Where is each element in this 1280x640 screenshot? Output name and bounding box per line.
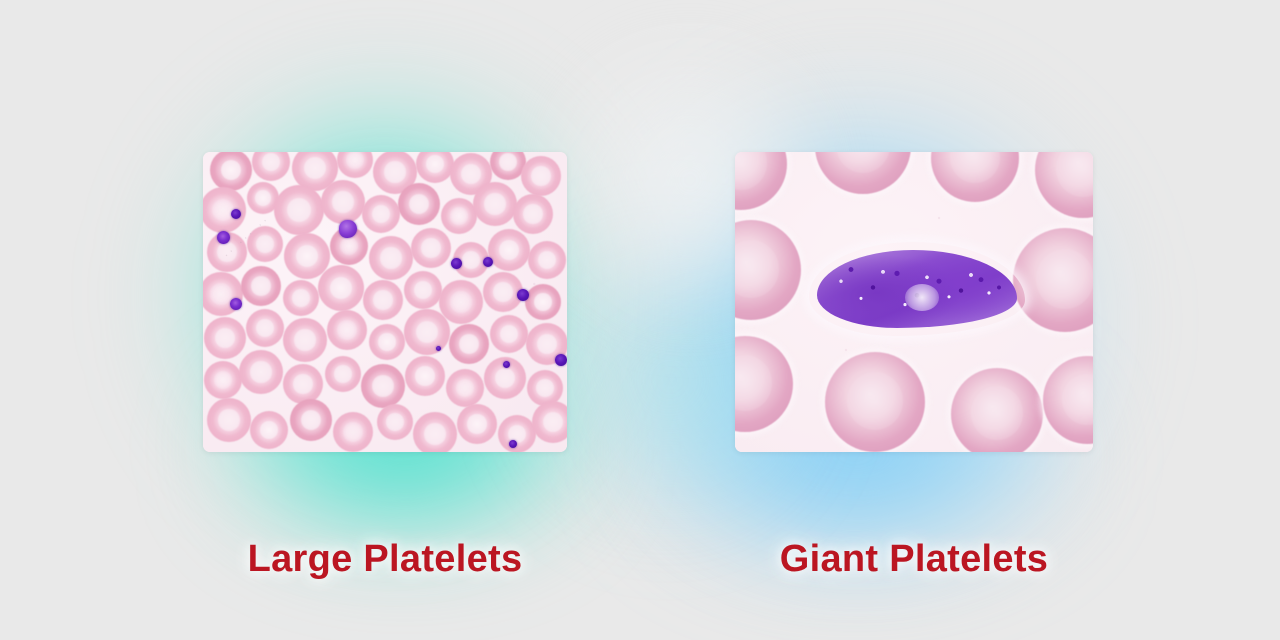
- red-blood-cell: [825, 352, 925, 452]
- red-blood-cell: [528, 241, 566, 279]
- red-blood-cell: [513, 194, 553, 234]
- red-blood-cell: [239, 350, 283, 394]
- caption-large-platelets: Large Platelets: [203, 538, 567, 581]
- red-blood-cell: [951, 368, 1043, 452]
- red-blood-cell: [490, 315, 528, 353]
- red-blood-cell: [369, 324, 405, 360]
- red-blood-cell: [246, 309, 284, 347]
- red-blood-cell: [404, 271, 442, 309]
- red-blood-cell: [441, 198, 477, 234]
- red-blood-cell: [525, 284, 561, 320]
- red-blood-cell: [411, 228, 451, 268]
- red-blood-cell: [446, 369, 484, 407]
- red-blood-cell: [327, 310, 367, 350]
- red-blood-cell: [283, 318, 327, 362]
- platelet: [436, 346, 441, 351]
- red-blood-cell: [318, 265, 364, 311]
- red-blood-cell: [404, 309, 450, 355]
- platelet: [555, 354, 567, 366]
- red-blood-cell: [333, 412, 373, 452]
- red-blood-cell: [283, 364, 323, 404]
- platelet: [503, 361, 510, 368]
- red-blood-cell: [473, 182, 517, 226]
- red-blood-cell: [363, 280, 403, 320]
- red-blood-cell: [488, 229, 530, 271]
- red-blood-cell: [283, 280, 319, 316]
- red-blood-cell: [241, 266, 281, 306]
- giant-platelet-hyalomere: [905, 284, 939, 311]
- red-blood-cell: [250, 411, 288, 449]
- red-blood-cell: [369, 236, 413, 280]
- red-blood-cell: [377, 404, 413, 440]
- red-blood-cell: [204, 361, 242, 399]
- red-blood-cell: [204, 317, 246, 359]
- platelet: [217, 231, 230, 244]
- platelet: [230, 298, 242, 310]
- red-blood-cell: [362, 195, 400, 233]
- red-blood-cell: [498, 415, 536, 452]
- platelet: [483, 257, 493, 267]
- platelet: [231, 209, 241, 219]
- giant-platelet: [817, 250, 1017, 328]
- red-blood-cell: [398, 183, 440, 225]
- red-blood-cell: [532, 401, 567, 443]
- red-blood-cell: [290, 399, 332, 441]
- red-blood-cell: [207, 398, 251, 442]
- caption-giant-platelets: Giant Platelets: [735, 538, 1093, 581]
- platelet: [451, 258, 462, 269]
- red-blood-cell: [405, 356, 445, 396]
- red-blood-cell: [325, 356, 361, 392]
- red-blood-cell: [361, 364, 405, 408]
- red-blood-cell: [413, 412, 457, 452]
- large-platelets-micrograph: ·· ··· ··: [203, 152, 567, 452]
- platelet: [509, 440, 517, 448]
- red-blood-cell: [321, 180, 365, 224]
- red-blood-cell: [521, 156, 561, 196]
- red-blood-cell: [457, 404, 497, 444]
- comparison-figure: ·· ··· ·· Large Platelets Giant Platelet…: [0, 0, 1280, 640]
- red-blood-cell: [449, 324, 489, 364]
- platelet: [517, 289, 529, 301]
- red-blood-cell: [439, 280, 483, 324]
- giant-platelets-micrograph: [735, 152, 1093, 452]
